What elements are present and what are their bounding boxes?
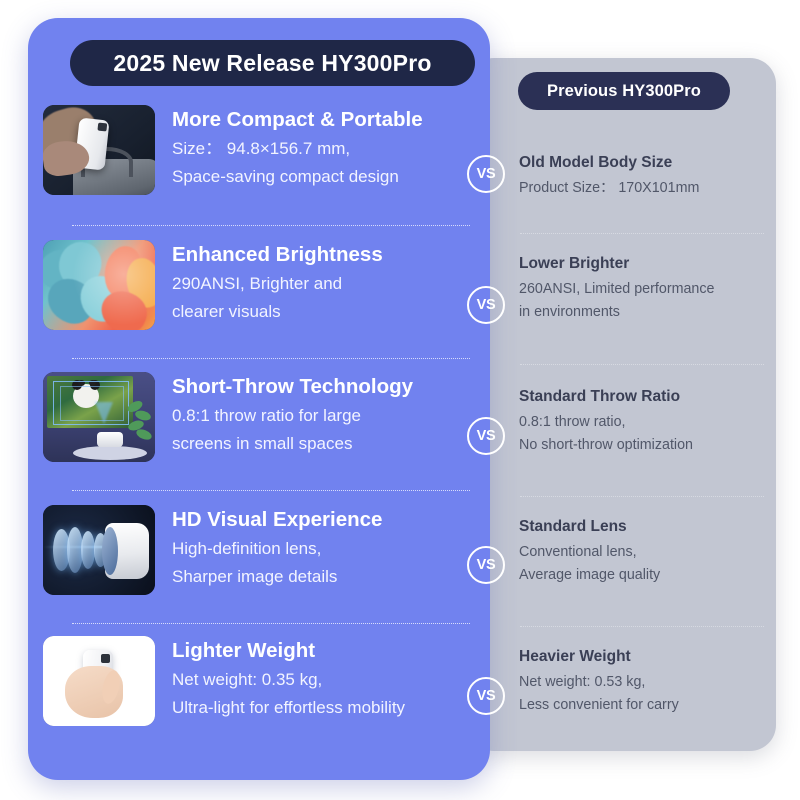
previous-row-line-1: Conventional lens, [519,541,769,564]
previous-row-line-2: No short-throw optimization [519,434,769,457]
new-row-line-2: Sharper image details [172,563,382,591]
vs-badge-label: VS [477,298,496,313]
new-row-brightness: Enhanced Brightness 290ANSI, Brighter an… [43,240,483,330]
previous-divider-1 [520,233,764,234]
vs-badge-1: VS [467,155,505,193]
colorful-flowers-photo [43,240,155,330]
previous-model-header-badge: Previous HY300Pro [518,72,730,110]
new-divider-1 [72,225,470,226]
previous-row-title: Standard Lens [519,516,769,538]
new-row-line-1: 290ANSI, Brighter and [172,270,383,298]
new-row-hd-visual: HD Visual Experience High-definition len… [43,505,483,595]
lens-elements-photo [43,505,155,595]
previous-model-header-label: Previous HY300Pro [547,82,701,101]
projector-in-bag-photo [43,105,155,195]
vs-badge-2: VS [467,286,505,324]
new-row-title: More Compact & Portable [172,107,423,133]
previous-row-line-2: Average image quality [519,564,769,587]
new-release-header-badge: 2025 New Release HY300Pro [70,40,475,86]
vs-badge-3: VS [467,417,505,455]
new-row-line-2: clearer visuals [172,298,383,326]
new-row-text: Enhanced Brightness 290ANSI, Brighter an… [172,240,383,326]
previous-row-line-1: Product Size： 170X101mm [519,177,769,200]
new-row-line-2: Ultra-light for effortless mobility [172,694,405,722]
new-release-header-label: 2025 New Release HY300Pro [113,50,431,77]
new-row-text: Lighter Weight Net weight: 0.35 kg, Ultr… [172,636,405,722]
vs-badge-label: VS [477,558,496,573]
previous-divider-2 [520,364,764,365]
vs-badge-label: VS [477,167,496,182]
previous-row-title: Standard Throw Ratio [519,386,769,408]
new-row-line-1: 0.8:1 throw ratio for large [172,402,413,430]
new-row-text: Short-Throw Technology 0.8:1 throw ratio… [172,372,413,458]
vs-badge-label: VS [477,429,496,444]
previous-row-throw-ratio: Standard Throw Ratio 0.8:1 throw ratio, … [519,386,769,457]
new-divider-4 [72,623,470,624]
new-row-title: Lighter Weight [172,638,405,664]
previous-row-line-2: in environments [519,301,769,324]
previous-divider-4 [520,626,764,627]
previous-row-lens: Standard Lens Conventional lens, Average… [519,516,769,587]
previous-row-line-1: Net weight: 0.53 kg, [519,671,769,694]
previous-divider-3 [520,496,764,497]
previous-row-title: Lower Brighter [519,253,769,275]
vs-badge-label: VS [477,689,496,704]
new-row-short-throw: Short-Throw Technology 0.8:1 throw ratio… [43,372,483,462]
previous-row-body-size: Old Model Body Size Product Size： 170X10… [519,152,769,200]
new-divider-2 [72,358,470,359]
new-row-line-2: Space-saving compact design [172,163,423,191]
previous-row-line-1: 260ANSI, Limited performance [519,278,769,301]
new-row-title: Short-Throw Technology [172,374,413,400]
hand-holding-projector-photo [43,636,155,726]
previous-row-brightness: Lower Brighter 260ANSI, Limited performa… [519,253,769,324]
new-row-text: HD Visual Experience High-definition len… [172,505,382,591]
new-row-compact-portable: More Compact & Portable Size： 94.8×156.7… [43,105,483,195]
new-row-title: Enhanced Brightness [172,242,383,268]
new-row-line-1: High-definition lens, [172,535,382,563]
vs-badge-5: VS [467,677,505,715]
new-row-line-1: Size： 94.8×156.7 mm, [172,135,423,163]
comparison-infographic: Previous HY300Pro Old Model Body Size Pr… [0,0,800,800]
new-row-text: More Compact & Portable Size： 94.8×156.7… [172,105,423,191]
new-row-title: HD Visual Experience [172,507,382,533]
new-row-line-2: screens in small spaces [172,430,413,458]
previous-row-title: Heavier Weight [519,646,769,668]
new-release-card: 2025 New Release HY300Pro More Compact &… [28,18,490,780]
previous-model-card: Previous HY300Pro Old Model Body Size Pr… [468,58,776,751]
projector-panda-projection-photo [43,372,155,462]
new-row-line-1: Net weight: 0.35 kg, [172,666,405,694]
new-divider-3 [72,490,470,491]
previous-row-line-1: 0.8:1 throw ratio, [519,411,769,434]
vs-badge-4: VS [467,546,505,584]
previous-row-title: Old Model Body Size [519,152,769,174]
previous-row-line-2: Less convenient for carry [519,694,769,717]
previous-row-weight: Heavier Weight Net weight: 0.53 kg, Less… [519,646,769,717]
new-row-lighter-weight: Lighter Weight Net weight: 0.35 kg, Ultr… [43,636,483,726]
